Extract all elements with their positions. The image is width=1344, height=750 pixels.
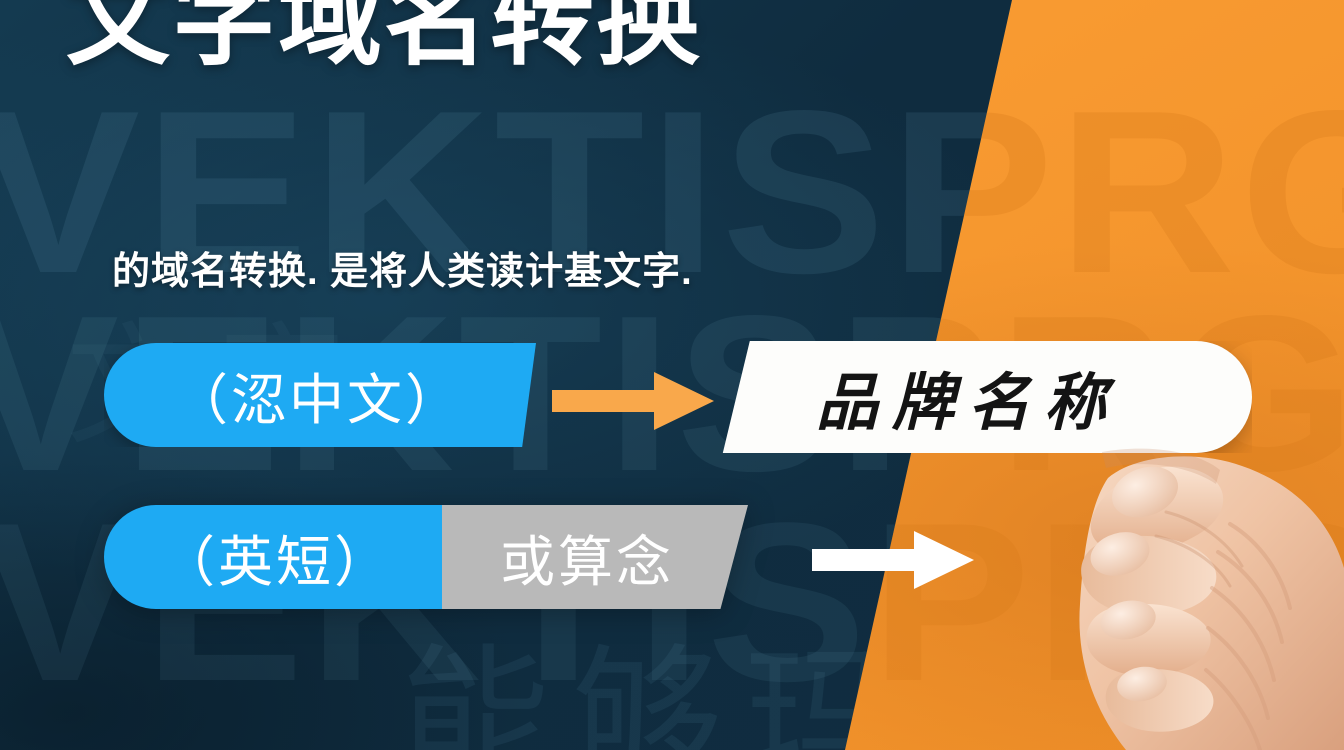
input-pill-chinese[interactable]: （涊中文） <box>104 343 536 447</box>
arrow-right-icon-white <box>812 531 974 589</box>
input-pill-english-label: （英短） <box>160 517 392 597</box>
page-title: 文字域名转换 <box>66 0 702 75</box>
output-card-brand-label: 品牌名称 <box>816 352 1120 442</box>
input-pill-secondary[interactable]: 或算念 <box>442 505 748 609</box>
input-pill-chinese-label: （涊中文） <box>173 355 463 435</box>
output-card-brand-name[interactable]: 品牌名称 <box>712 341 1252 453</box>
poster-canvas: VEKTISPRGMNET VEKTISPRGMNET VEKTISPRGMNE… <box>0 0 1344 750</box>
input-pill-english-group: （英短） 或算念 <box>104 505 748 609</box>
input-pill-secondary-label: 或算念 <box>500 517 674 597</box>
page-subtitle: 的域名转换. 是将人类读计基文字. <box>112 240 693 295</box>
arrow-right-icon-orange <box>552 372 714 430</box>
input-pill-english[interactable]: （英短） <box>104 505 448 609</box>
